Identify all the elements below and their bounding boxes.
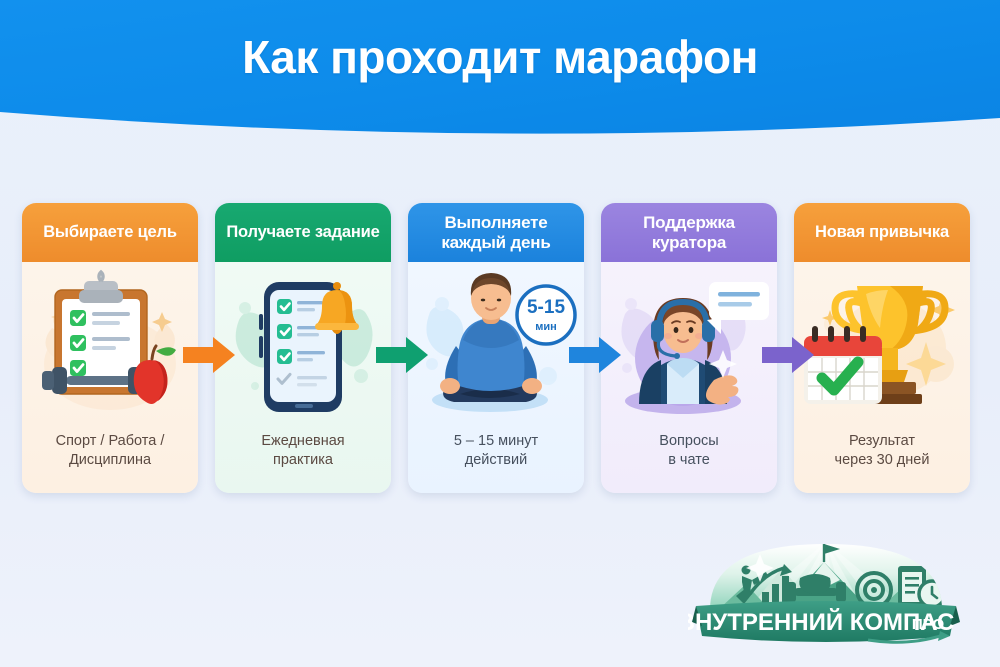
step-4-caption: Вопросы в чате <box>601 432 777 471</box>
step-3-header: Выполняете каждый день <box>408 203 584 262</box>
step-1-header: Выбираете цель <box>22 203 198 262</box>
arrow-4 <box>762 337 814 373</box>
step-3-caption-line1: 5 – 15 минут <box>454 433 538 449</box>
step-5-caption-line2: через 30 дней <box>835 452 930 468</box>
step-card-2[interactable]: Получаете задание <box>215 203 391 493</box>
step-4-body: Вопросы в чате <box>601 262 777 493</box>
page-header-banner: Как проходит марафон <box>0 0 1000 150</box>
trophy-calendar-icon <box>794 268 970 428</box>
clipboard-dumbbell-apple-icon <box>22 268 198 428</box>
step-3-header-line2: каждый день <box>441 233 550 252</box>
arrow-1 <box>183 337 235 373</box>
step-2-header: Получаете задание <box>215 203 391 262</box>
step-4-header-line1: Поддержка <box>643 213 735 232</box>
step-5-caption: Результат через 30 дней <box>794 432 970 471</box>
step-2-caption: Ежедневная практика <box>215 432 391 471</box>
page-title: Как проходит марафон <box>0 30 1000 84</box>
step-4-caption-line1: Вопросы <box>659 433 718 449</box>
step-2-body: Ежедневная практика <box>215 262 391 493</box>
logo-text-suffix: ПРО <box>912 616 945 633</box>
step-5-caption-line1: Результат <box>849 433 915 449</box>
step-card-4[interactable]: Поддержка куратора <box>601 203 777 493</box>
step-1-caption-line2: Дисциплина <box>69 452 151 468</box>
step-4-caption-line2: в чате <box>668 452 710 468</box>
step-4-header: Поддержка куратора <box>601 203 777 262</box>
steps-row: Выбираете цель <box>0 203 1000 495</box>
step-1-body: Спорт / Работа / Дисциплина <box>22 262 198 493</box>
arrow-3 <box>569 337 621 373</box>
step-2-caption-line2: практика <box>273 452 333 468</box>
meditating-person-icon: 5-15 мин <box>408 268 584 428</box>
step-card-3[interactable]: Выполняете каждый день <box>408 203 584 493</box>
step-5-header: Новая привычка <box>794 203 970 262</box>
duration-badge-unit: мин <box>535 321 557 333</box>
step-2-caption-line1: Ежедневная <box>261 433 344 449</box>
step-1-caption: Спорт / Работа / Дисциплина <box>22 432 198 471</box>
step-card-5[interactable]: Новая привычка <box>794 203 970 493</box>
arrow-2 <box>376 337 428 373</box>
step-3-body: 5-15 мин 5 – 15 минут действий <box>408 262 584 493</box>
step-4-header-line2: куратора <box>652 233 726 252</box>
step-3-caption-line2: действий <box>465 452 527 468</box>
duration-badge-value: 5-15 <box>527 297 565 318</box>
step-card-1[interactable]: Выбираете цель <box>22 203 198 493</box>
step-3-caption: 5 – 15 минут действий <box>408 432 584 471</box>
phone-checklist-bell-icon <box>215 268 391 428</box>
step-3-header-line1: Выполняете <box>444 213 547 232</box>
brand-logo[interactable]: ВНУТРЕННИЙ КОМПАС ПРО <box>688 532 964 652</box>
support-agent-headset-icon <box>601 268 777 428</box>
step-5-body: Результат через 30 дней <box>794 262 970 493</box>
step-1-caption-line1: Спорт / Работа / <box>56 433 165 449</box>
